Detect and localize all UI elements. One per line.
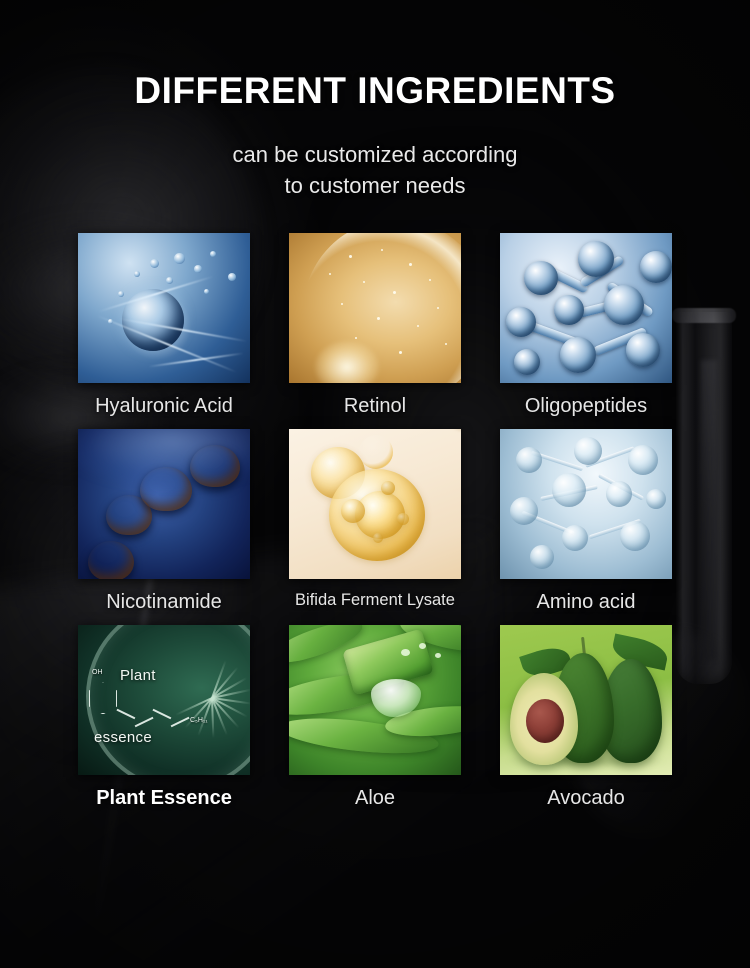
golden-sphere-image <box>289 233 461 383</box>
ingredients-page: DIFFERENT INGREDIENTS can be customized … <box>0 0 750 968</box>
gold-bubbles-dropper-image <box>289 429 461 579</box>
ingredient-label: Retinol <box>289 395 461 417</box>
ingredient-label: Avocado <box>500 787 672 809</box>
ingredient-card-amino-acid[interactable]: Amino acid <box>500 429 672 613</box>
amber-droplets-image <box>78 429 250 579</box>
ingredient-card-bifida-ferment-lysate[interactable]: Bifida Ferment Lysate <box>289 429 461 613</box>
hydroxyl-label: OH <box>92 669 103 676</box>
aloe-leaf-image <box>289 625 461 775</box>
ingredient-card-retinol[interactable]: Retinol <box>289 233 461 417</box>
ingredient-thumbnail[interactable] <box>78 233 250 383</box>
ingredient-thumbnail[interactable] <box>500 625 672 775</box>
ingredient-label: Hyaluronic Acid <box>78 395 250 417</box>
ingredient-card-oligopeptides[interactable]: Oligopeptides <box>500 233 672 417</box>
subtitle-line-2: to customer needs <box>0 170 750 201</box>
plant-word-top: Plant <box>120 667 156 684</box>
ingredient-thumbnail[interactable] <box>289 429 461 579</box>
ingredients-grid: Hyaluronic Acid <box>0 233 750 809</box>
ingredient-card-nicotinamide[interactable]: Nicotinamide <box>78 429 250 613</box>
ingredient-thumbnail[interactable] <box>78 429 250 579</box>
page-title: DIFFERENT INGREDIENTS <box>0 0 750 112</box>
ingredient-label: Plant Essence <box>78 787 250 809</box>
avocado-fruit-image <box>500 625 672 775</box>
dropper-pipette <box>389 429 461 431</box>
subtitle-line-1: can be customized according <box>233 142 518 167</box>
sphere-glow <box>315 341 379 383</box>
ingredient-label: Aloe <box>289 787 461 809</box>
page-subtitle: can be customized according to customer … <box>0 139 750 201</box>
ingredient-label: Oligopeptides <box>500 395 672 417</box>
chain-formula-label: C₅H₁₁ <box>190 717 208 724</box>
ingredient-thumbnail[interactable] <box>289 625 461 775</box>
ingredient-thumbnail[interactable] <box>289 233 461 383</box>
ingredient-thumbnail[interactable] <box>500 429 672 579</box>
thistle-plant <box>170 653 250 745</box>
ingredient-thumbnail[interactable] <box>500 233 672 383</box>
ingredient-card-aloe[interactable]: Aloe <box>289 625 461 809</box>
molecule-model-image <box>500 233 672 383</box>
ingredient-label: Amino acid <box>500 591 672 613</box>
ingredient-card-hyaluronic-acid[interactable]: Hyaluronic Acid <box>78 233 250 417</box>
ingredient-label: Bifida Ferment Lysate <box>289 591 461 609</box>
ingredient-label: Nicotinamide <box>78 591 250 613</box>
amino-molecule-image <box>500 429 672 579</box>
plant-word-bottom: essence <box>94 729 152 746</box>
ingredient-thumbnail[interactable]: OH C₅H₁₁ Plant essence <box>78 625 250 775</box>
ingredient-card-avocado[interactable]: Avocado <box>500 625 672 809</box>
plant-essence-formula-image: OH C₅H₁₁ Plant essence <box>78 625 250 775</box>
water-splash-image <box>78 233 250 383</box>
ingredient-card-plant-essence[interactable]: OH C₅H₁₁ Plant essence Plant Essence <box>78 625 250 809</box>
